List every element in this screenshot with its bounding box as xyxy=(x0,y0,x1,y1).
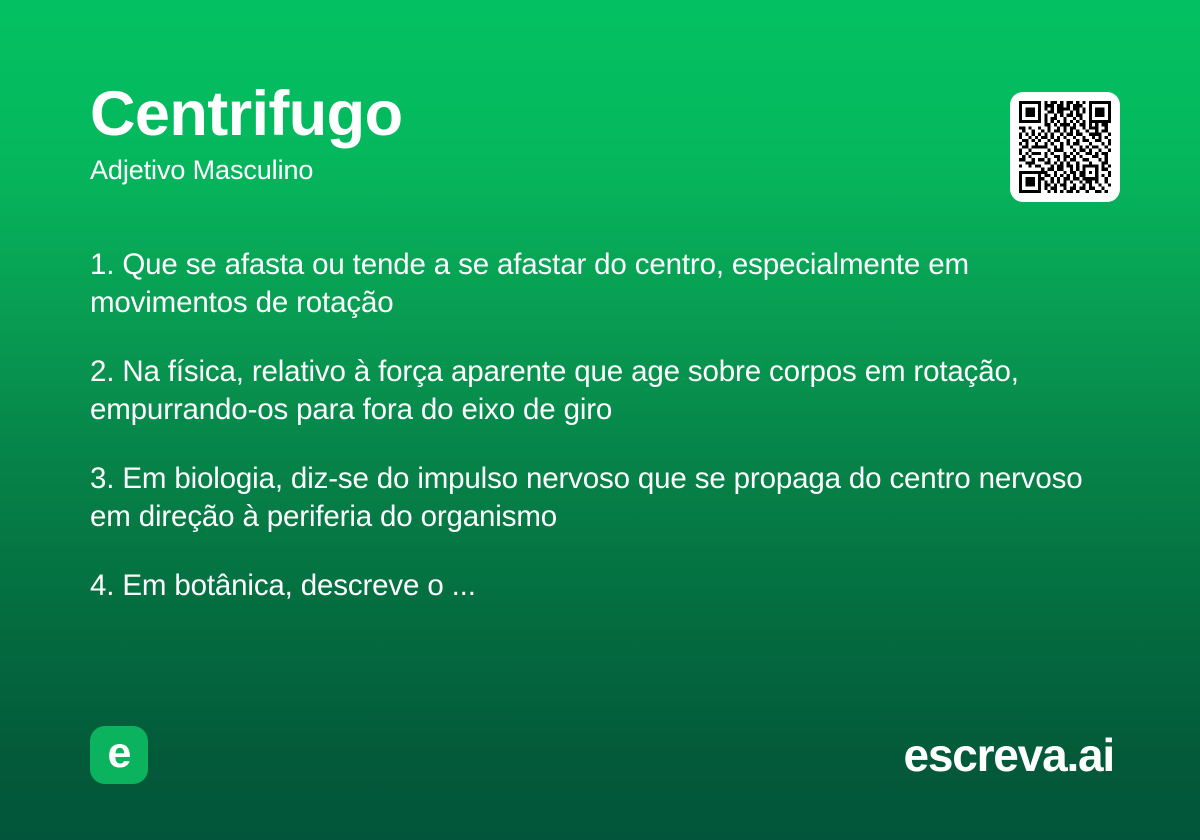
definition-item-4: 4. Em botânica, descreve o ... xyxy=(90,567,1090,605)
card-footer: e escreva.ai xyxy=(90,726,1114,784)
qr-code-icon xyxy=(1019,101,1111,193)
card-header: Centrifugo Adjetivo Masculino xyxy=(90,82,950,186)
qr-code[interactable] xyxy=(1010,92,1120,202)
page-title: Centrifugo xyxy=(90,82,950,146)
brand-wordmark: escreva.ai xyxy=(903,732,1114,778)
logo-letter: e xyxy=(108,732,131,775)
escreva-logo-icon: e xyxy=(90,726,148,784)
definition-item-1: 1. Que se afasta ou tende a se afastar d… xyxy=(90,246,1090,322)
word-definition-card: Centrifugo Adjetivo Masculino xyxy=(0,0,1200,840)
definition-item-3: 3. Em biologia, diz-se do impulso nervos… xyxy=(90,460,1090,536)
word-class-label: Adjetivo Masculino xyxy=(90,156,950,186)
definition-list: 1. Que se afasta ou tende a se afastar d… xyxy=(90,246,1090,605)
definition-item-2: 2. Na física, relativo à força aparente … xyxy=(90,353,1090,429)
